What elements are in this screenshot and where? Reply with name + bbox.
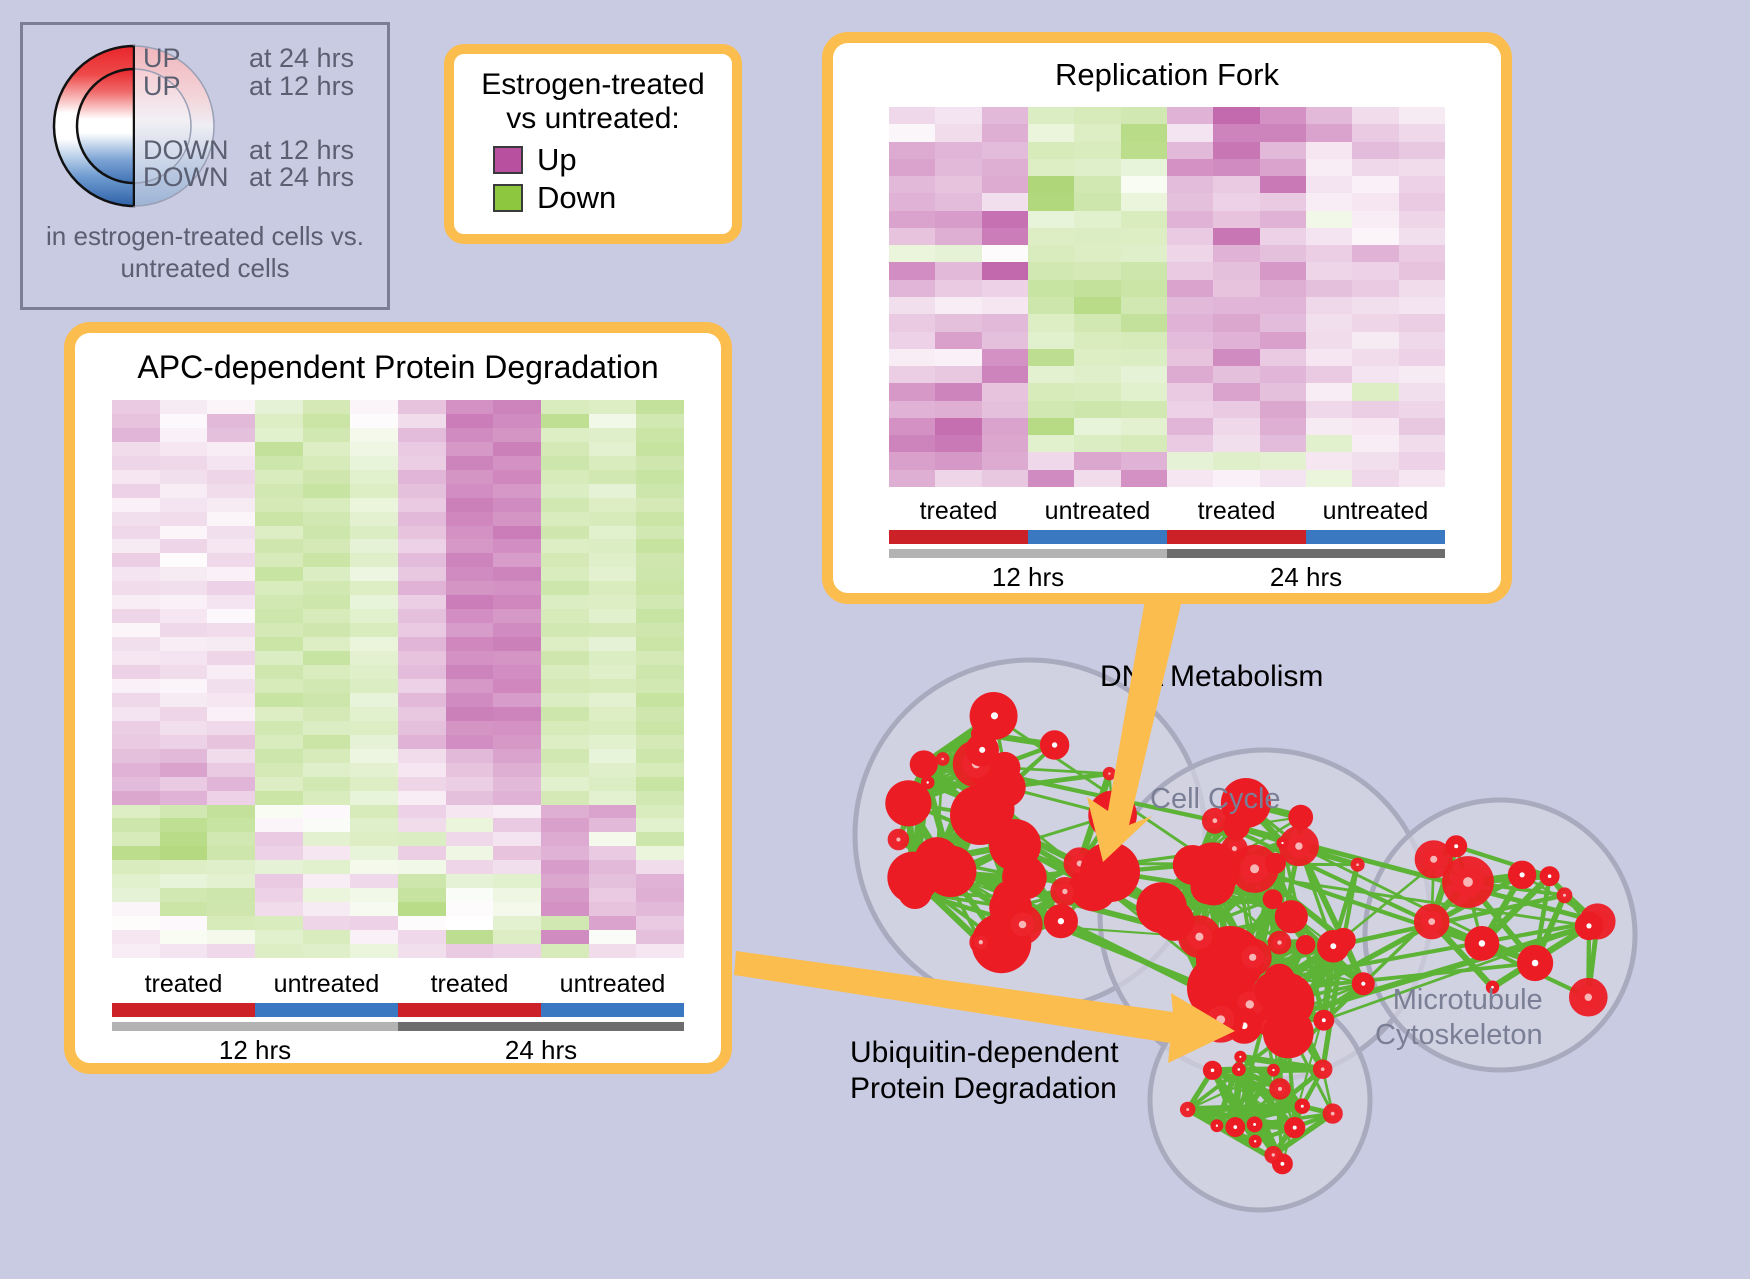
heatmap-cell bbox=[541, 707, 589, 721]
heatmap-cell bbox=[1213, 435, 1259, 452]
legend-title: Estrogen-treated vs untreated: bbox=[454, 68, 732, 136]
heatmap-cell bbox=[935, 297, 981, 314]
key-direction: DOWN bbox=[143, 137, 249, 165]
heatmap-cell bbox=[112, 665, 160, 679]
network-node[interactable] bbox=[1088, 791, 1137, 840]
heatmap-cell bbox=[1306, 470, 1352, 487]
network-node[interactable] bbox=[1288, 805, 1313, 830]
heatmap-cell bbox=[255, 581, 303, 595]
network-node[interactable] bbox=[1173, 845, 1213, 885]
heatmap-cell bbox=[255, 400, 303, 414]
heatmap-cell bbox=[889, 366, 935, 383]
heatmap-cell bbox=[1260, 176, 1306, 193]
heatmap-cell bbox=[112, 414, 160, 428]
heatmap-cell bbox=[493, 623, 541, 637]
heatmap-cell bbox=[982, 349, 1028, 366]
heatmap-cell bbox=[589, 512, 637, 526]
heatmap-cell bbox=[207, 707, 255, 721]
heatmap-cell bbox=[398, 651, 446, 665]
heatmap-cell bbox=[1028, 262, 1074, 279]
heatmap-cell bbox=[160, 888, 208, 902]
heatmap-cell bbox=[112, 553, 160, 567]
heatmap-cell bbox=[889, 280, 935, 297]
heatmap-cell bbox=[982, 193, 1028, 210]
heatmap-cell bbox=[1399, 142, 1445, 159]
heatmap-cell bbox=[255, 860, 303, 874]
heatmap-cell bbox=[889, 245, 935, 262]
heatmap-cell bbox=[350, 791, 398, 805]
heatmap-cell bbox=[1213, 245, 1259, 262]
heatmap-cell bbox=[541, 763, 589, 777]
network-node[interactable] bbox=[1237, 1053, 1244, 1060]
network-node[interactable] bbox=[1213, 1122, 1221, 1130]
heatmap-cell bbox=[398, 595, 446, 609]
network-node[interactable] bbox=[1235, 1065, 1243, 1073]
network-node[interactable] bbox=[1240, 855, 1269, 884]
heatmap-cell bbox=[398, 665, 446, 679]
heatmap-cell bbox=[636, 651, 684, 665]
network-node[interactable] bbox=[946, 869, 960, 883]
heatmap-cell bbox=[303, 512, 351, 526]
heatmap-cell bbox=[636, 581, 684, 595]
key-row: DOWN at 24 hrs bbox=[143, 164, 393, 192]
heatmap-cell bbox=[1306, 193, 1352, 210]
heatmap-cell bbox=[1028, 107, 1074, 124]
heatmap-cell bbox=[255, 623, 303, 637]
heatmap-cell bbox=[255, 512, 303, 526]
heatmap-cell bbox=[255, 609, 303, 623]
heatmap-cell bbox=[446, 679, 494, 693]
heatmap-cell bbox=[589, 442, 637, 456]
heatmap-cell bbox=[160, 874, 208, 888]
heatmap-cell bbox=[350, 567, 398, 581]
heatmap-cell bbox=[112, 735, 160, 749]
heatmap-cell bbox=[255, 832, 303, 846]
heatmap-cell bbox=[1121, 349, 1167, 366]
heatmap-cell bbox=[207, 609, 255, 623]
heatmap-cell bbox=[446, 484, 494, 498]
heatmap-cell bbox=[636, 498, 684, 512]
heatmap-cell bbox=[1121, 452, 1167, 469]
network-node[interactable] bbox=[1353, 861, 1361, 869]
heatmap-cell bbox=[303, 470, 351, 484]
heatmap-cell bbox=[1399, 401, 1445, 418]
heatmap-cell bbox=[935, 349, 981, 366]
heatmap-cell bbox=[636, 512, 684, 526]
timepoint-label: 24 hrs bbox=[1167, 562, 1445, 593]
network-node[interactable] bbox=[1274, 1083, 1287, 1096]
heatmap-cell bbox=[160, 805, 208, 819]
heatmap-cell bbox=[303, 428, 351, 442]
heatmap-cell bbox=[350, 484, 398, 498]
heatmap-cell bbox=[493, 428, 541, 442]
heatmap-cell bbox=[255, 498, 303, 512]
network-node[interactable] bbox=[1273, 936, 1287, 950]
network-node[interactable] bbox=[910, 750, 938, 778]
heatmap-cell bbox=[982, 452, 1028, 469]
heatmap-cell bbox=[207, 595, 255, 609]
heatmap-cell bbox=[589, 763, 637, 777]
heatmap-cell bbox=[636, 484, 684, 498]
heatmap-cell bbox=[1352, 262, 1398, 279]
heatmap-cell bbox=[1167, 262, 1213, 279]
heatmap-cell bbox=[1028, 314, 1074, 331]
heatmap-cell bbox=[398, 428, 446, 442]
heatmap-cell bbox=[303, 456, 351, 470]
heatmap-cell bbox=[1213, 176, 1259, 193]
heatmap-cell bbox=[207, 442, 255, 456]
heatmap-cell bbox=[398, 832, 446, 846]
heatmap-cell bbox=[398, 581, 446, 595]
network-node[interactable] bbox=[1288, 1121, 1301, 1134]
heatmap-cell bbox=[207, 721, 255, 735]
network-node[interactable] bbox=[1254, 972, 1290, 1008]
heatmap-cell bbox=[493, 832, 541, 846]
network-node[interactable] bbox=[1581, 918, 1598, 935]
heatmap-cell bbox=[446, 665, 494, 679]
heatmap-cell bbox=[889, 228, 935, 245]
network-node[interactable] bbox=[1514, 866, 1531, 883]
heatmap-cell bbox=[350, 651, 398, 665]
heatmap-cell bbox=[493, 693, 541, 707]
network-node[interactable] bbox=[1046, 736, 1063, 753]
heatmap-cell bbox=[303, 707, 351, 721]
heatmap-cell bbox=[935, 401, 981, 418]
heatmap-cell bbox=[446, 930, 494, 944]
heatmap-cell bbox=[1028, 297, 1074, 314]
heatmap-cell bbox=[1306, 332, 1352, 349]
heatmap-cell bbox=[982, 297, 1028, 314]
heatmap-cell bbox=[207, 637, 255, 651]
network-node[interactable] bbox=[1207, 1006, 1234, 1033]
network-node[interactable] bbox=[1544, 870, 1556, 882]
network-node[interactable] bbox=[1154, 901, 1194, 941]
heatmap-cell bbox=[350, 805, 398, 819]
heatmap-cell bbox=[303, 651, 351, 665]
heatmap-cell bbox=[160, 581, 208, 595]
network-node[interactable] bbox=[1011, 913, 1035, 937]
heatmap-cell bbox=[303, 902, 351, 916]
heatmap-cell bbox=[1260, 262, 1306, 279]
heatmap-cell bbox=[160, 567, 208, 581]
heatmap-cell bbox=[1260, 228, 1306, 245]
network-node[interactable] bbox=[924, 779, 932, 787]
network-node[interactable] bbox=[1560, 891, 1569, 900]
heatmap-cell bbox=[207, 791, 255, 805]
heatmap-cell bbox=[982, 332, 1028, 349]
heatmap-cell bbox=[493, 400, 541, 414]
network-node[interactable] bbox=[1298, 1102, 1307, 1111]
heatmap-cell bbox=[1121, 418, 1167, 435]
network-node[interactable] bbox=[1421, 911, 1442, 932]
network-node[interactable] bbox=[1056, 883, 1073, 900]
heatmap-cell bbox=[1260, 193, 1306, 210]
heatmap-cell bbox=[1121, 159, 1167, 176]
heatmap-cell bbox=[1074, 193, 1120, 210]
heatmap-cell bbox=[1260, 124, 1306, 141]
heatmap-cell bbox=[160, 902, 208, 916]
timepoint-bar-segment bbox=[1167, 549, 1445, 558]
heatmap-cell bbox=[1352, 470, 1398, 487]
heatmap-cell bbox=[589, 637, 637, 651]
heatmap-cell bbox=[446, 637, 494, 651]
network-node[interactable] bbox=[1327, 1108, 1339, 1120]
heatmap-cell bbox=[1306, 211, 1352, 228]
heatmap-cell bbox=[1352, 435, 1398, 452]
heatmap-cell bbox=[1074, 349, 1120, 366]
heatmap-cell bbox=[207, 888, 255, 902]
condition-color-bar bbox=[112, 1003, 684, 1017]
network-node[interactable] bbox=[892, 833, 905, 846]
heatmap-cell bbox=[112, 818, 160, 832]
heatmap-cell bbox=[207, 567, 255, 581]
heatmap-cell bbox=[541, 553, 589, 567]
heatmap-cell bbox=[541, 846, 589, 860]
heatmap-cell bbox=[1352, 349, 1398, 366]
heatmap-cell bbox=[1260, 349, 1306, 366]
timepoint-bar-segment bbox=[398, 1022, 684, 1031]
heatmap-cell bbox=[1306, 314, 1352, 331]
heatmap-cell bbox=[112, 484, 160, 498]
heatmap-cell bbox=[398, 512, 446, 526]
heatmap-cell bbox=[589, 735, 637, 749]
heatmap-cell bbox=[1028, 401, 1074, 418]
heatmap-cell bbox=[160, 470, 208, 484]
network-node[interactable] bbox=[1450, 840, 1463, 853]
timepoint-bar-segment bbox=[112, 1022, 398, 1031]
heatmap-cell bbox=[398, 484, 446, 498]
heatmap-cell bbox=[636, 832, 684, 846]
condition-bar-segment bbox=[541, 1003, 684, 1017]
network-node[interactable] bbox=[1275, 900, 1308, 933]
heatmap-cell bbox=[1260, 142, 1306, 159]
heatmap-cell bbox=[935, 280, 981, 297]
heatmap-cell bbox=[1121, 262, 1167, 279]
network-node[interactable] bbox=[1241, 946, 1264, 969]
heatmap-cell bbox=[889, 418, 935, 435]
heatmap-cell bbox=[1352, 193, 1398, 210]
heatmap-cell bbox=[160, 749, 208, 763]
heatmap-cell bbox=[160, 456, 208, 470]
heatmap-cell bbox=[889, 314, 935, 331]
heatmap-cell bbox=[255, 539, 303, 553]
heatmap-cell bbox=[446, 735, 494, 749]
heatmap-cell bbox=[1399, 383, 1445, 400]
heatmap-cell bbox=[1352, 314, 1398, 331]
heatmap-cell bbox=[1352, 366, 1398, 383]
heatmap-cell bbox=[255, 665, 303, 679]
key-timepoint: at 24 hrs bbox=[249, 45, 354, 73]
network-node[interactable] bbox=[1472, 933, 1493, 954]
network-node[interactable] bbox=[1318, 1014, 1330, 1026]
network-node[interactable] bbox=[983, 704, 1006, 727]
heatmap-cell bbox=[636, 888, 684, 902]
heatmap-cell bbox=[350, 553, 398, 567]
heatmap-cell bbox=[541, 442, 589, 456]
heatmap-cell bbox=[1213, 401, 1259, 418]
heatmap-cell bbox=[1028, 124, 1074, 141]
heatmap-cell bbox=[398, 442, 446, 456]
heatmap-cell bbox=[1306, 366, 1352, 383]
heatmap-cell bbox=[1074, 107, 1120, 124]
heatmap-cell bbox=[589, 916, 637, 930]
heatmap-cell bbox=[636, 456, 684, 470]
heatmap-cell bbox=[446, 944, 494, 958]
heatmap-cell bbox=[541, 400, 589, 414]
heatmap-cell bbox=[398, 637, 446, 651]
network-node[interactable] bbox=[985, 767, 1025, 807]
heatmap-cell bbox=[889, 452, 935, 469]
heatmap-cell bbox=[350, 679, 398, 693]
network-node[interactable] bbox=[972, 740, 992, 760]
heatmap-cell bbox=[1074, 418, 1120, 435]
heatmap-cell bbox=[112, 791, 160, 805]
heatmap-cell bbox=[982, 124, 1028, 141]
network-node[interactable] bbox=[1357, 977, 1371, 991]
heatmap-cell bbox=[1213, 142, 1259, 159]
heatmap-cell bbox=[1213, 452, 1259, 469]
heatmap-cell bbox=[589, 860, 637, 874]
network-node[interactable] bbox=[1422, 848, 1445, 871]
heatmap-cell bbox=[112, 763, 160, 777]
heatmap-cell bbox=[636, 470, 684, 484]
heatmap-cell bbox=[446, 846, 494, 860]
heatmap-cell bbox=[1074, 314, 1120, 331]
network-node[interactable] bbox=[1183, 1105, 1192, 1114]
heatmap-cell bbox=[1352, 418, 1398, 435]
network-node[interactable] bbox=[1324, 937, 1343, 956]
heatmap-cell bbox=[1399, 297, 1445, 314]
heatmap-cell bbox=[1213, 332, 1259, 349]
heatmap-cell bbox=[636, 707, 684, 721]
heatmap-cell bbox=[350, 512, 398, 526]
heatmap-cell bbox=[303, 484, 351, 498]
heatmap-cell bbox=[493, 609, 541, 623]
heatmap-cell bbox=[207, 512, 255, 526]
heatmap-cell bbox=[589, 777, 637, 791]
heatmap-cell bbox=[493, 763, 541, 777]
heatmap-cell bbox=[255, 693, 303, 707]
heatmap-cell bbox=[1399, 228, 1445, 245]
heatmap-cell bbox=[398, 818, 446, 832]
heatmap-cell bbox=[1260, 418, 1306, 435]
timepoint-color-bar bbox=[112, 1022, 684, 1031]
network-node[interactable] bbox=[939, 755, 947, 763]
heatmap-cell bbox=[255, 749, 303, 763]
heatmap-cell bbox=[1213, 470, 1259, 487]
heatmap-cell bbox=[207, 874, 255, 888]
heatmap-cell bbox=[350, 428, 398, 442]
network-node[interactable] bbox=[1051, 911, 1071, 931]
heatmap-cell bbox=[541, 777, 589, 791]
heatmap-cell bbox=[589, 818, 637, 832]
heatmap-cell bbox=[160, 707, 208, 721]
heatmap-cell bbox=[935, 383, 981, 400]
network-node[interactable] bbox=[1263, 1008, 1314, 1059]
heatmap-cell bbox=[541, 637, 589, 651]
heatmap-cell bbox=[112, 539, 160, 553]
key-timepoint: at 24 hrs bbox=[249, 164, 354, 192]
key-direction: UP bbox=[143, 45, 249, 73]
heatmap-cell bbox=[446, 749, 494, 763]
heatmap-cell bbox=[446, 805, 494, 819]
heatmap-cell bbox=[493, 735, 541, 749]
heatmap-cell bbox=[207, 693, 255, 707]
heatmap-cell bbox=[541, 902, 589, 916]
heatmap-cell bbox=[493, 526, 541, 540]
heatmap-cell bbox=[1399, 124, 1445, 141]
heatmap-cell bbox=[398, 498, 446, 512]
heatmap-cell bbox=[303, 860, 351, 874]
heatmap-cell bbox=[1121, 401, 1167, 418]
heatmap-cell bbox=[1213, 418, 1259, 435]
heatmap-cell bbox=[255, 902, 303, 916]
heatmap-cell bbox=[112, 651, 160, 665]
network-node[interactable] bbox=[974, 935, 988, 949]
heatmap-cell bbox=[160, 930, 208, 944]
network-node[interactable] bbox=[1524, 952, 1545, 973]
heatmap-cell bbox=[303, 595, 351, 609]
network-node[interactable] bbox=[1279, 839, 1286, 846]
heatmap-cell bbox=[1399, 211, 1445, 228]
heatmap-cell bbox=[1399, 314, 1445, 331]
network-node[interactable] bbox=[1287, 834, 1311, 858]
key-direction: UP bbox=[143, 73, 249, 101]
heatmap-cell bbox=[350, 539, 398, 553]
heatmap-cell bbox=[350, 916, 398, 930]
network-node[interactable] bbox=[1453, 867, 1484, 898]
heatmap-cell bbox=[1121, 176, 1167, 193]
heatmap-cell bbox=[255, 930, 303, 944]
network-node[interactable] bbox=[1577, 986, 1600, 1009]
heatmap-cell bbox=[303, 442, 351, 456]
network-node[interactable] bbox=[1268, 1150, 1279, 1161]
heatmap-cell bbox=[112, 679, 160, 693]
heatmap-cell bbox=[636, 735, 684, 749]
heatmap-cell bbox=[636, 400, 684, 414]
heatmap-cell bbox=[207, 860, 255, 874]
heatmap-cell bbox=[1074, 383, 1120, 400]
network-node[interactable] bbox=[1296, 935, 1316, 955]
heatmap-cell bbox=[1213, 228, 1259, 245]
network-node[interactable] bbox=[1080, 842, 1140, 902]
heatmap-cell bbox=[350, 498, 398, 512]
network-node[interactable] bbox=[1207, 1065, 1218, 1076]
heatmap-cell bbox=[589, 874, 637, 888]
heatmap-cell bbox=[493, 414, 541, 428]
network-node[interactable] bbox=[1270, 1066, 1278, 1074]
network-node[interactable] bbox=[1105, 770, 1113, 778]
network-node[interactable] bbox=[1229, 1121, 1241, 1133]
heatmap-cell bbox=[493, 874, 541, 888]
heatmap-cell bbox=[350, 832, 398, 846]
heatmap-cell bbox=[589, 930, 637, 944]
network-node[interactable] bbox=[1317, 1063, 1329, 1075]
heatmap-cell bbox=[493, 498, 541, 512]
heatmap-cell bbox=[398, 860, 446, 874]
legend-item-label: Down bbox=[537, 180, 616, 216]
heatmap-cell bbox=[446, 539, 494, 553]
heatmap-cell bbox=[935, 228, 981, 245]
heatmap-cell bbox=[303, 818, 351, 832]
heatmap-cell bbox=[589, 707, 637, 721]
network-node[interactable] bbox=[1251, 1137, 1259, 1145]
network-node[interactable] bbox=[1250, 1120, 1259, 1129]
heatmap-cell bbox=[303, 498, 351, 512]
network-node[interactable] bbox=[898, 875, 932, 909]
heatmap-cell bbox=[493, 567, 541, 581]
heatmap-cell bbox=[446, 832, 494, 846]
